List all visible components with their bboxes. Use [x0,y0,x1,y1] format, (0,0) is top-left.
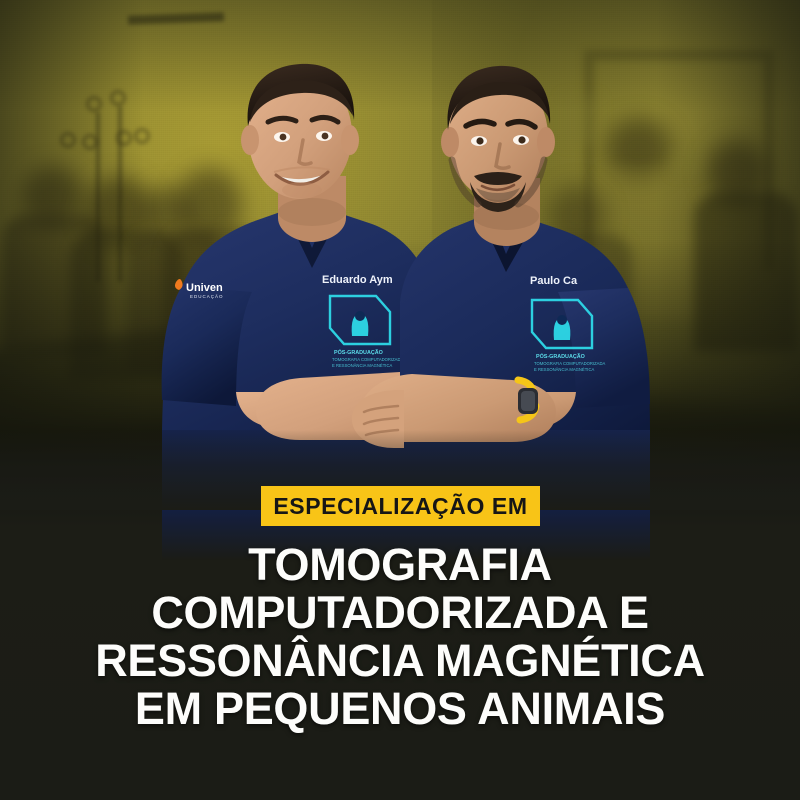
univen-logo-text: Univen [186,282,223,294]
emblem-label-2: TOMOGRAFIA COMPUTADORIZADA [332,357,403,362]
left-person-chin-shadow [282,182,322,198]
specialization-badge: ESPECIALIZAÇÃO EM [261,486,540,526]
emblem-label-1: PÓS-GRADUAÇÃO [536,352,585,360]
left-person-neck-shadow [278,198,346,226]
univen-logo-subtext: EDUCAÇÃO [190,293,224,299]
left-person-ear [341,125,359,155]
left-person-name-text: Eduardo Aym [322,274,393,286]
specialization-badge-label: ESPECIALIZAÇÃO EM [273,495,527,518]
left-person-ear [241,125,259,155]
left-person-pupil [322,133,329,140]
emblem-inner-dot [355,311,365,321]
title-line-4: EM PEQUENOS ANIMAIS [0,685,800,733]
emblem-label-1: PÓS-GRADUAÇÃO [334,348,383,356]
emblem-label-3: E RESSONÂNCIA MAGNÉTICA [534,367,594,372]
course-title: TOMOGRAFIA COMPUTADORIZADA E RESSONÂNCIA… [0,541,800,733]
smartwatch-screen [521,391,535,411]
title-line-2: COMPUTADORIZADA E [0,589,800,637]
emblem-inner-dot [557,315,567,325]
right-person-ear [537,127,555,157]
title-line-3: RESSONÂNCIA MAGNÉTICA [0,637,800,685]
left-person-name-tag: Eduardo Aym [322,274,393,286]
emblem-label-2: TOMOGRAFIA COMPUTADORIZADA [534,361,605,366]
right-person-pupil [518,136,525,143]
poster-root: Univen EDUCAÇÃO Eduardo Aym PÓS-GRADUAÇÃ… [0,0,800,800]
emblem-label-3: E RESSONÂNCIA MAGNÉTICA [332,363,392,368]
left-person-pupil [280,134,287,141]
right-person-name-text: Paulo Ca [530,275,578,287]
title-line-1: TOMOGRAFIA [0,541,800,589]
right-person-pupil [476,137,483,144]
right-person-ear [441,127,459,157]
